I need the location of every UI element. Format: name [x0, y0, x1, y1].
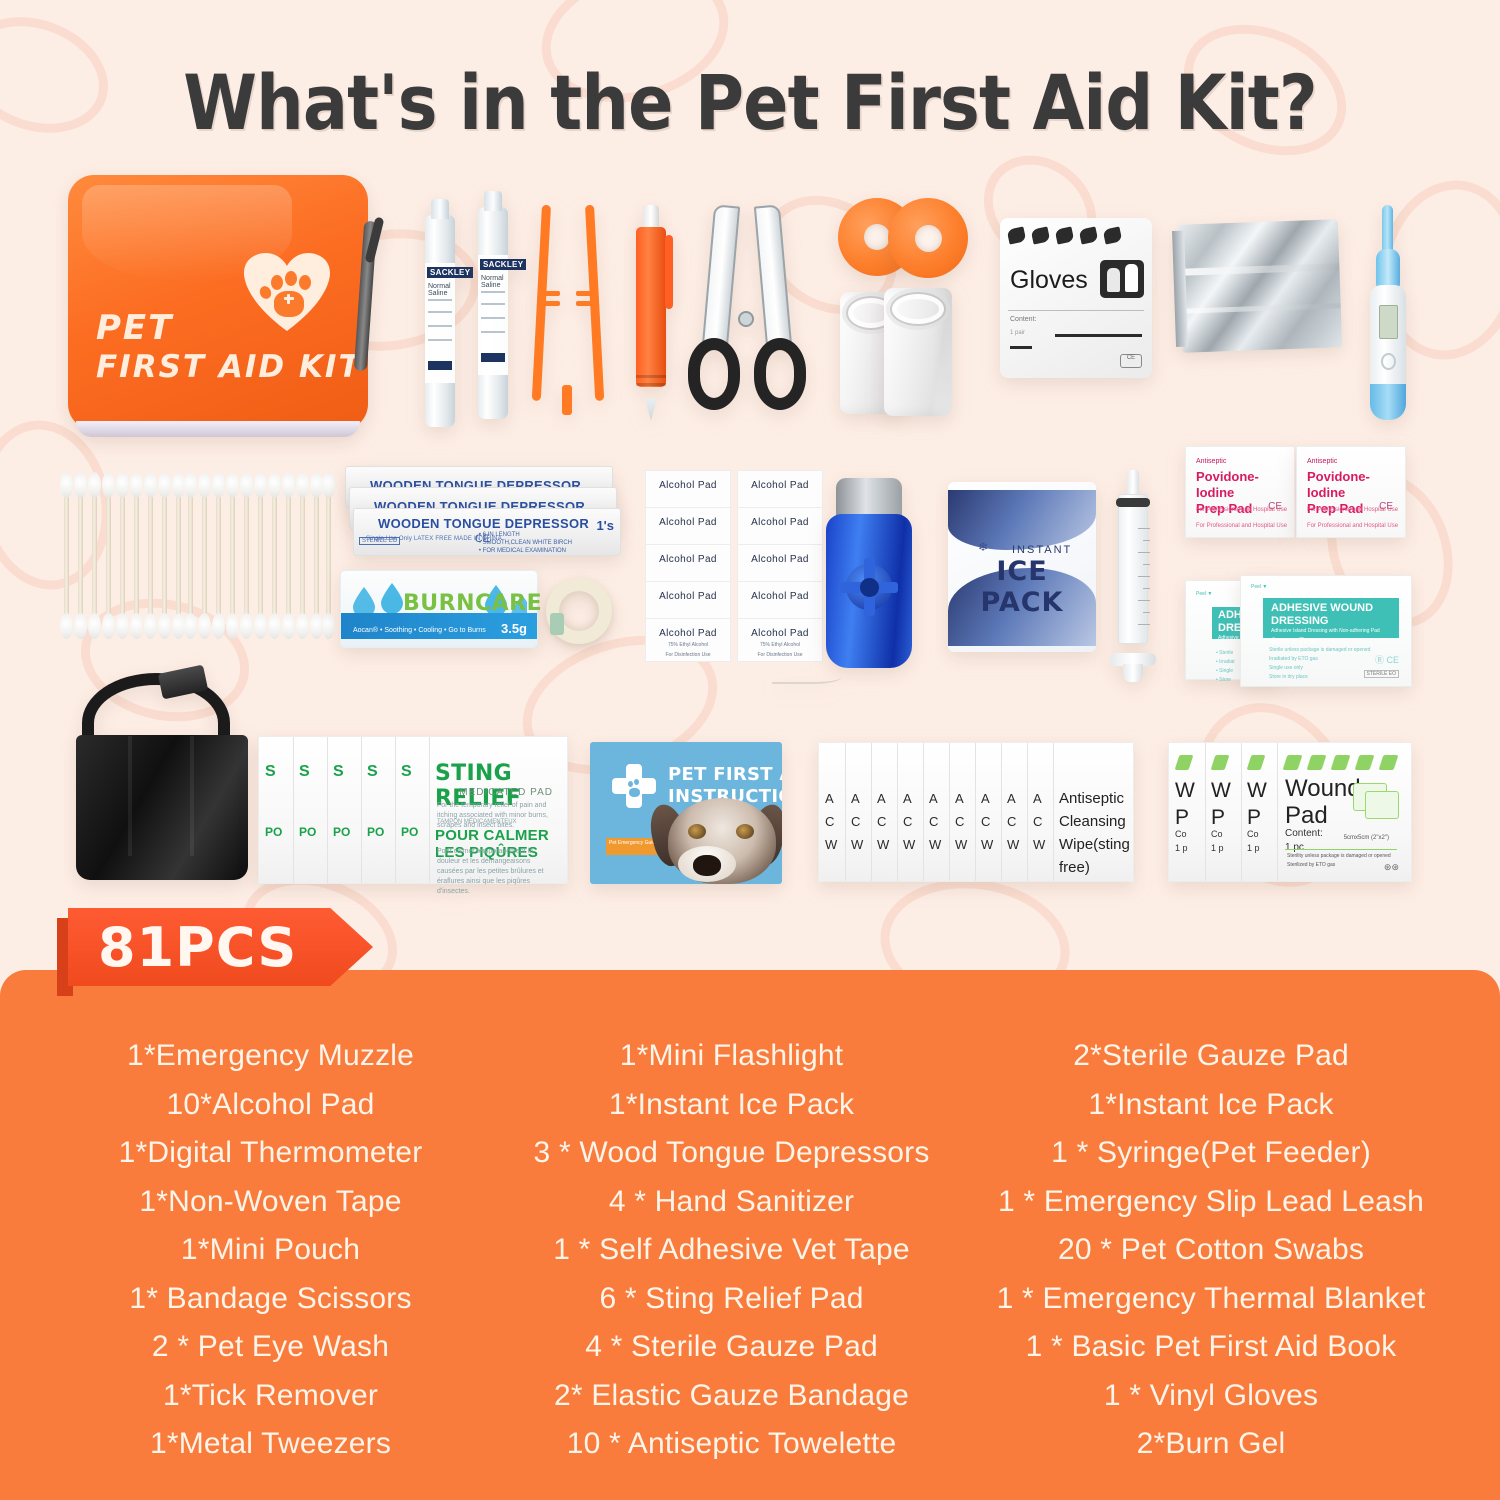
- pet-first-aid-instructions-book: PET FIRST AIDINSTRUCTIONS Pet Emergency …: [590, 742, 782, 884]
- elastic-gauze-bandage-roll-2: [884, 288, 952, 416]
- alcohol-pad: Alcohol Pad: [645, 470, 731, 508]
- wound-pad-content-value: 1 pc: [1285, 842, 1304, 853]
- contents-column-1: 1*Emergency Muzzle 10*Alcohol Pad 1*Digi…: [40, 1032, 501, 1500]
- pet-cotton-swabs-group-2: [200, 478, 330, 633]
- list-item: 10*Alcohol Pad: [40, 1081, 501, 1130]
- sting-relief-fr-small: TAMPON MÉDICAMENTEUX: [437, 819, 517, 825]
- alcohol-pad: Alcohol Pad: [737, 581, 823, 619]
- list-item: 2* Elastic Gauze Bandage: [501, 1372, 962, 1421]
- list-item: 1 * Self Adhesive Vet Tape: [501, 1226, 962, 1275]
- list-item: 1*Instant Ice Pack: [962, 1081, 1460, 1130]
- self-adhesive-vet-tape-roll-2: [888, 198, 968, 278]
- alcohol-pad: Alcohol Pad: [645, 507, 731, 545]
- list-item: 6 * Sting Relief Pad: [501, 1275, 962, 1324]
- wound-pad-title-1: Wound: [1285, 775, 1361, 802]
- emergency-thermal-blanket: [1178, 219, 1342, 353]
- non-woven-tape-roll: [546, 578, 612, 644]
- ice-pack-line1: INSTANT: [1012, 544, 1072, 556]
- digital-thermometer: [1368, 205, 1408, 420]
- povidone-iodine-prep-pad-2: Antiseptic Povidone-IodinePrep Pad CE Fo…: [1296, 446, 1406, 538]
- wipe-line-1: Antiseptic: [1059, 787, 1133, 810]
- sting-relief-subtitle: MEDICATED PAD: [459, 787, 553, 798]
- list-item: 1*Digital Thermometer: [40, 1129, 501, 1178]
- burncare-weight: 3.5g: [501, 621, 527, 636]
- bandage-scissors: [692, 205, 802, 410]
- metal-tweezers: [540, 205, 596, 405]
- eye-wash-brand-2: SACKLEY: [480, 259, 526, 270]
- list-item: 1 * Emergency Thermal Blanket: [962, 1275, 1460, 1324]
- list-item: 4 * Sterile Gauze Pad: [501, 1323, 962, 1372]
- wipe-line-3: Wipe(sting free): [1059, 833, 1133, 879]
- sting-relief-body-fr: Pour calmer temporairement la douleur et…: [437, 847, 557, 897]
- wound-pad-size: 5cmx5cm (2"x2"): [1344, 835, 1389, 841]
- list-item: 1*Non-Woven Tape: [40, 1178, 501, 1227]
- eye-wash-name: Normal Saline: [428, 283, 455, 297]
- list-item: 1* Bandage Scissors: [40, 1275, 501, 1324]
- pet-eye-wash-vial-1: SACKLEY Normal Saline: [425, 215, 455, 427]
- td-title-1: WOODEN TONGUE DEPRESSOR: [378, 516, 589, 531]
- list-item: 10 * Antiseptic Towelette: [501, 1420, 962, 1469]
- adhesive-wound-dressing-2: ADHESIVE WOUNDDRESSING Adhesive Island D…: [1240, 575, 1412, 687]
- syringe-pet-feeder: [1112, 470, 1154, 666]
- alcohol-pads-block: Alcohol Pad Alcohol Pad Alcohol Pad Alco…: [645, 470, 823, 660]
- contents-column-2: 1*Mini Flashlight 1*Instant Ice Pack 3 *…: [501, 1032, 962, 1500]
- sting-relief-pads-stack: S S S S S PO PO PO PO PO STING RELIEF ME…: [258, 736, 568, 884]
- list-item: 4 * Hand Sanitizer: [501, 1178, 962, 1227]
- book-title-1: PET FIRST AID: [668, 764, 782, 785]
- list-item: 1 * Vinyl Gloves: [962, 1372, 1460, 1421]
- alcohol-pad: Alcohol Pad 75% Ethyl Alcohol For Disinf…: [737, 618, 823, 662]
- instant-ice-pack: INSTANT ICE PACK ❄: [948, 482, 1096, 652]
- wound-pad-bullet-2: Sterilized by ETO gas: [1287, 862, 1335, 868]
- list-item: 2*Burn Gel: [962, 1420, 1460, 1469]
- contents-column-3: 2*Sterile Gauze Pad 1*Instant Ice Pack 1…: [962, 1032, 1460, 1500]
- pet-first-aid-kit-case: PET FIRST AID KIT: [68, 175, 368, 430]
- alcohol-pad: Alcohol Pad: [645, 544, 731, 582]
- list-item: 1*Mini Flashlight: [501, 1032, 962, 1081]
- eye-wash-brand: SACKLEY: [427, 267, 473, 278]
- list-item: 1*Tick Remover: [40, 1372, 501, 1421]
- alcohol-pad: Alcohol Pad 75% Ethyl Alcohol For Disinf…: [645, 618, 731, 662]
- povidone-iodine-prep-pad-1: Antiseptic Povidone-IodinePrep Pad CE Fo…: [1185, 446, 1295, 538]
- td-bullet-2: • SMOOTH,CLEAN WHITE BIRCH: [479, 539, 572, 547]
- list-item: 1*Instant Ice Pack: [501, 1081, 962, 1130]
- ice-pack-line2: ICE PACK: [958, 556, 1086, 618]
- list-item: 1*Metal Tweezers: [40, 1420, 501, 1469]
- wound-pad-title-2: Pad: [1285, 802, 1328, 829]
- list-item: 1*Emergency Muzzle: [40, 1032, 501, 1081]
- td-bullet-3: • FOR MEDICAL EXAMINATION: [479, 547, 572, 555]
- pet-eye-wash-vial-2: SACKLEY Normal Saline: [478, 207, 508, 419]
- td-sterile-mark: STERILE EO: [359, 537, 400, 545]
- dog-photo: [652, 794, 782, 884]
- pieces-count-badge: 81PCS: [68, 908, 373, 986]
- mini-flashlight: [826, 478, 912, 668]
- contents-panel: 1*Emergency Muzzle 10*Alcohol Pad 1*Digi…: [0, 970, 1500, 1500]
- cross-paw-icon: [612, 764, 656, 808]
- wipe-line-2: Cleansing: [1059, 810, 1133, 833]
- sting-relief-pad: S S S S S PO PO PO PO PO STING RELIEF ME…: [258, 736, 568, 884]
- pet-cotton-swabs-group-1: [62, 478, 192, 633]
- alcohol-pad: Alcohol Pad: [737, 507, 823, 545]
- heart-paw-logo-icon: [244, 253, 330, 331]
- alcohol-pad: Alcohol Pad: [737, 544, 823, 582]
- page-title: What's in the Pet First Aid Kit?: [90, 58, 1410, 147]
- gloves-content-label: Content:: [1010, 316, 1036, 323]
- eye-wash-name-2: Normal Saline: [481, 275, 508, 289]
- td-bullet-1: • 6 IN LENGTH: [479, 531, 572, 539]
- burn-gel-sachet: BURNCARE RELIEVE BURN GEL 3.5g Aocan® • …: [340, 570, 538, 648]
- gloves-label: Gloves: [1010, 266, 1088, 295]
- list-item: 2*Sterile Gauze Pad: [962, 1032, 1460, 1081]
- td-qty: 1's: [596, 518, 614, 533]
- list-item: 2 * Pet Eye Wash: [40, 1323, 501, 1372]
- list-item: 1 * Basic Pet First Aid Book: [962, 1323, 1460, 1372]
- list-item: 20 * Pet Cotton Swabs: [962, 1226, 1460, 1275]
- wound-pad-content-label: Content:: [1285, 828, 1323, 839]
- wound-pads-stack: WP WP WP WoundPad Co1 p Co1 p Co1 p Cont…: [1168, 742, 1412, 882]
- emergency-muzzle: [68, 655, 258, 880]
- wooden-tongue-depressor-1: WOODEN TONGUE DEPRESSOR Single Use Only …: [353, 508, 621, 556]
- case-line2: FIRST AID KIT: [96, 348, 362, 386]
- list-item: 1*Mini Pouch: [40, 1226, 501, 1275]
- tick-remover-pen: [636, 205, 666, 405]
- vinyl-gloves-package: Gloves Content: 1 pair CE: [1000, 218, 1152, 378]
- wound-pad-bullet-1: Sterility unless package is damaged or o…: [1287, 853, 1391, 859]
- list-item: 1 * Syringe(Pet Feeder): [962, 1129, 1460, 1178]
- antiseptic-towelettes-stack: ACW ACW ACW ACW ACW ACW ACW ACW ACW Anti…: [818, 742, 1134, 882]
- list-item: 3 * Wood Tongue Depressors: [501, 1129, 962, 1178]
- list-item: 1 * Emergency Slip Lead Leash: [962, 1178, 1460, 1227]
- pieces-count-label: 81PCS: [98, 916, 297, 979]
- alcohol-pad: Alcohol Pad: [645, 581, 731, 619]
- alcohol-pad: Alcohol Pad: [737, 470, 823, 508]
